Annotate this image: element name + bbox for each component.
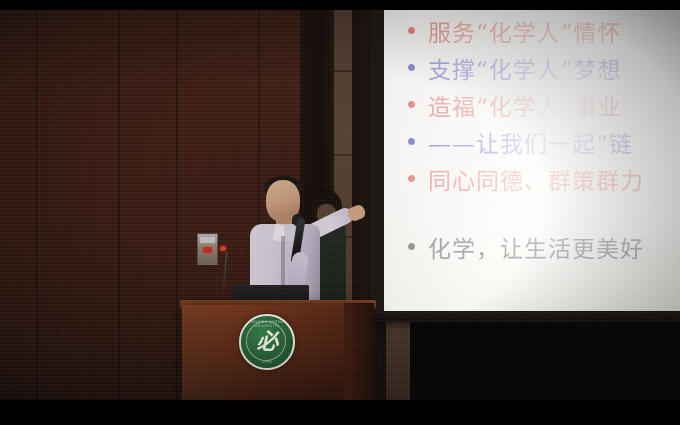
panel-indicator-icon xyxy=(203,247,212,253)
emblem-top-text: ZHEJIANG NORMAL UNIVERSITY xyxy=(241,320,293,328)
wall-control-panel xyxy=(197,233,218,265)
bullet-point-icon xyxy=(408,138,415,145)
letterbox-bottom-bar xyxy=(0,400,680,425)
bullet-point-icon xyxy=(408,64,415,71)
bullet-point-icon xyxy=(408,27,415,34)
photo-stage: 服务“化学人”情怀 支撑“化学人”梦想 造福“化学人”事业 ——让我们一起“链 … xyxy=(0,0,680,425)
slide-bullet-text: ——让我们一起“链 xyxy=(428,125,633,159)
projection-screen-bottom-bar xyxy=(372,311,680,321)
slide-bullet-line: 化学，让生活更美好 xyxy=(408,228,680,265)
university-emblem: ZHEJIANG NORMAL UNIVERSITY 必 1956 xyxy=(239,314,295,370)
slide-bullet-text: 服务“化学人”情怀 xyxy=(428,14,622,48)
bullet-point-icon xyxy=(408,243,415,250)
wall-seam xyxy=(118,8,120,408)
slide-spacer xyxy=(408,197,680,228)
presentation-slide: 服务“化学人”情怀 支撑“化学人”梦想 造福“化学人”事业 ——让我们一起“链 … xyxy=(384,6,680,311)
bullet-point-icon xyxy=(408,101,415,108)
slide-bullet-text: 化学，让生活更美好 xyxy=(428,230,644,264)
slide-bullet-text: 同心同德、群策群力 xyxy=(428,162,644,196)
bullet-point-icon xyxy=(408,175,415,182)
wall-seam xyxy=(36,8,38,408)
slide-bullet-line: 造福“化学人”事业 xyxy=(408,86,680,123)
podium-right-face xyxy=(344,303,374,400)
slide-bullet-text: 造福“化学人”事业 xyxy=(428,88,622,122)
slide-bullet-line: ——让我们一起“链 xyxy=(408,123,680,160)
slide-bullet-line: 同心同德、群策群力 xyxy=(408,160,680,197)
microphone-led-icon xyxy=(220,246,226,251)
lecture-hall-scene: 服务“化学人”情怀 支撑“化学人”梦想 造福“化学人”事业 ——让我们一起“链 … xyxy=(0,0,680,425)
slide-bullet-text: 支撑“化学人”梦想 xyxy=(428,51,622,85)
slide-bullet-line: 支撑“化学人”梦想 xyxy=(408,49,680,86)
letterbox-top-bar xyxy=(0,0,680,10)
projection-screen: 服务“化学人”情怀 支撑“化学人”梦想 造福“化学人”事业 ——让我们一起“链 … xyxy=(384,6,680,311)
wall-seam xyxy=(176,8,178,408)
slide-bullet-line: 服务“化学人”情怀 xyxy=(408,12,680,49)
panel-label-plate xyxy=(200,237,215,243)
emblem-bottom-text: 1956 xyxy=(241,360,293,364)
